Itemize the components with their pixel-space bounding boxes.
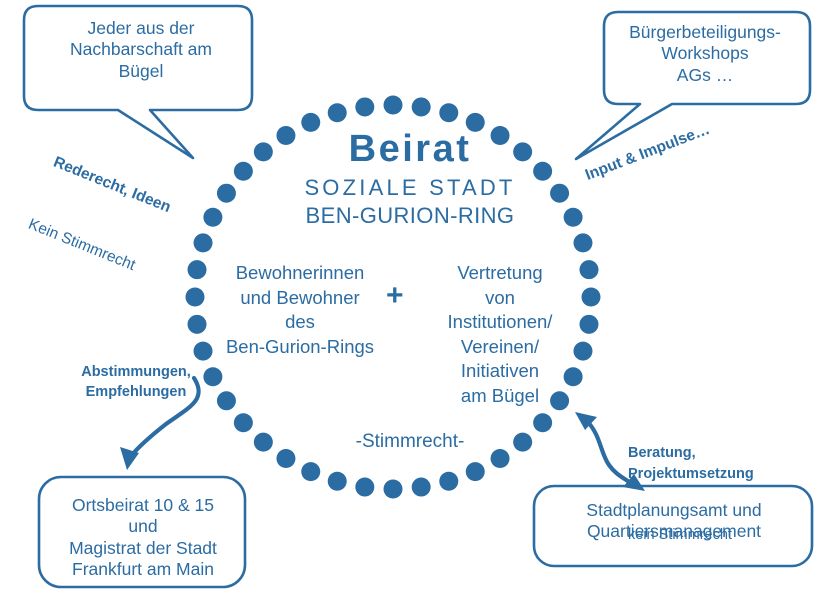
ring-dot bbox=[188, 315, 207, 334]
bubble-text-top-right: Bürgerbeteiligungs- Workshops AGs … bbox=[604, 22, 806, 86]
ring-dot bbox=[384, 96, 403, 115]
subtitle-ben-gurion-ring: BEN-GURION-RING bbox=[0, 203, 820, 230]
diagram-canvas: Jeder aus der Nachbarschaft am Bügel Bür… bbox=[0, 0, 820, 600]
annotation-beratung-bold: Beratung, Projektumsetzung bbox=[628, 443, 808, 484]
ring-dot bbox=[328, 103, 347, 122]
box-text-ortsbeirat: Ortsbeirat 10 & 15 und Magistrat der Sta… bbox=[42, 495, 244, 580]
ring-dot bbox=[439, 103, 458, 122]
center-column-residents: Bewohnerinnen und Bewohner des Ben-Gurio… bbox=[210, 261, 390, 359]
annotation-abstimmungen: Abstimmungen, Empfehlungen bbox=[46, 362, 226, 403]
ring-dot bbox=[194, 233, 213, 252]
ring-dot bbox=[579, 315, 598, 334]
ring-dot bbox=[355, 478, 374, 497]
ring-dot bbox=[355, 97, 374, 116]
ring-dot bbox=[466, 462, 485, 481]
bubble-text-top-left: Jeder aus der Nachbarschaft am Bügel bbox=[34, 18, 248, 82]
ring-dot bbox=[582, 288, 601, 307]
box-text-stadtplanung: Stadtplanungsamt und Quartiersmanagement bbox=[540, 500, 808, 543]
ring-dot bbox=[579, 260, 598, 279]
ring-dot bbox=[301, 462, 320, 481]
ring-dot bbox=[384, 480, 403, 499]
ring-dot bbox=[412, 478, 431, 497]
ring-dot bbox=[412, 97, 431, 116]
ring-dot bbox=[188, 260, 207, 279]
center-column-institutions: Vertretung von Institutionen/ Vereinen/ … bbox=[420, 261, 580, 409]
ring-dot bbox=[439, 472, 458, 491]
page-title: Beirat bbox=[0, 126, 820, 172]
plus-icon: + bbox=[386, 278, 404, 315]
subtitle-soziale-stadt: SOZIALE STADT bbox=[0, 175, 820, 202]
ring-dot bbox=[186, 288, 205, 307]
ring-dot bbox=[328, 472, 347, 491]
ring-dot bbox=[573, 233, 592, 252]
annotation-beratung: Beratung, Projektumsetzung kein Stimmrec… bbox=[628, 402, 808, 587]
